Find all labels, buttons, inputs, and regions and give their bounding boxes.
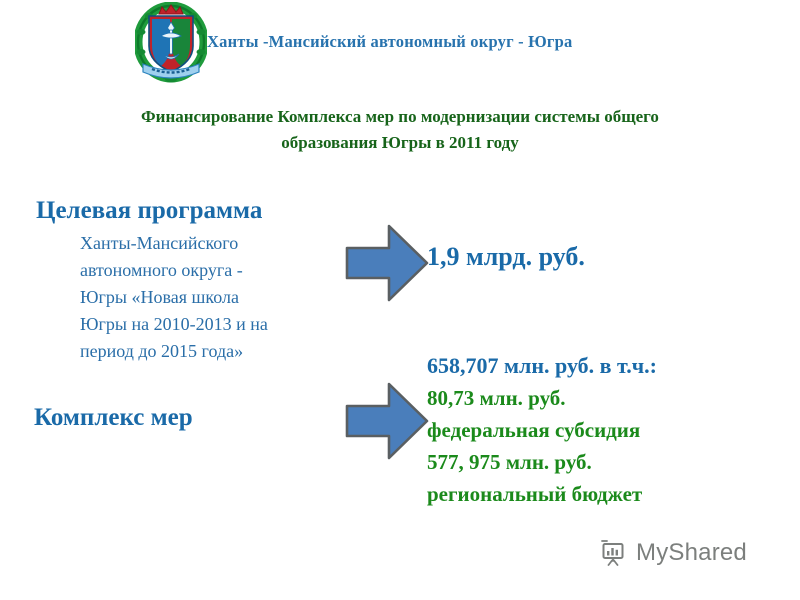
- program-amount-value: 1,9 млрд. руб.: [427, 240, 585, 274]
- page-title-line-1: Финансирование Комплекса мер по модерниз…: [60, 104, 740, 130]
- measures-amount-total: 658,707 млн. руб. в т.ч.:: [427, 350, 787, 382]
- measures-amount-regional-value: 577, 975 млн. руб.: [427, 446, 787, 478]
- measures-amount-regional-label: региональный бюджет: [427, 478, 787, 510]
- slide-header: Ханты -Мансийский автономный округ - Югр…: [0, 0, 800, 88]
- khanty-mansi-coat-of-arms-icon: [135, 2, 207, 84]
- right-arrow-icon: [343, 378, 431, 464]
- header-title: Ханты -Мансийский автономный округ - Югр…: [207, 32, 572, 52]
- presentation-chart-icon: [598, 538, 628, 568]
- left-labels-column: Целевая программа Ханты-Мансийского авто…: [22, 196, 332, 365]
- page-title: Финансирование Комплекса мер по модерниз…: [60, 104, 740, 156]
- program-description: Ханты-Мансийского автономного округа - Ю…: [22, 230, 332, 365]
- measures-heading: Комплекс мер: [22, 402, 193, 434]
- page-title-line-2: образования Югры в 2011 году: [60, 130, 740, 156]
- measures-amount-federal-value: 80,73 млн. руб.: [427, 382, 787, 414]
- measures-amount-block: 658,707 млн. руб. в т.ч.: 80,73 млн. руб…: [427, 350, 787, 510]
- myshared-watermark: MyShared: [598, 538, 747, 568]
- measures-amount-federal-label: федеральная субсидия: [427, 414, 787, 446]
- program-heading: Целевая программа: [22, 196, 332, 226]
- program-description-line: Ханты-Мансийского: [80, 230, 332, 257]
- program-description-line: Югры «Новая школа: [80, 284, 332, 311]
- myshared-watermark-label: MyShared: [636, 539, 747, 567]
- program-description-line: Югры на 2010-2013 и на: [80, 311, 332, 338]
- program-description-line: автономного округа -: [80, 257, 332, 284]
- slide-canvas: Ханты -Мансийский автономный округ - Югр…: [0, 0, 800, 600]
- right-arrow-icon: [343, 220, 431, 306]
- program-description-line: период до 2015 года»: [80, 338, 332, 365]
